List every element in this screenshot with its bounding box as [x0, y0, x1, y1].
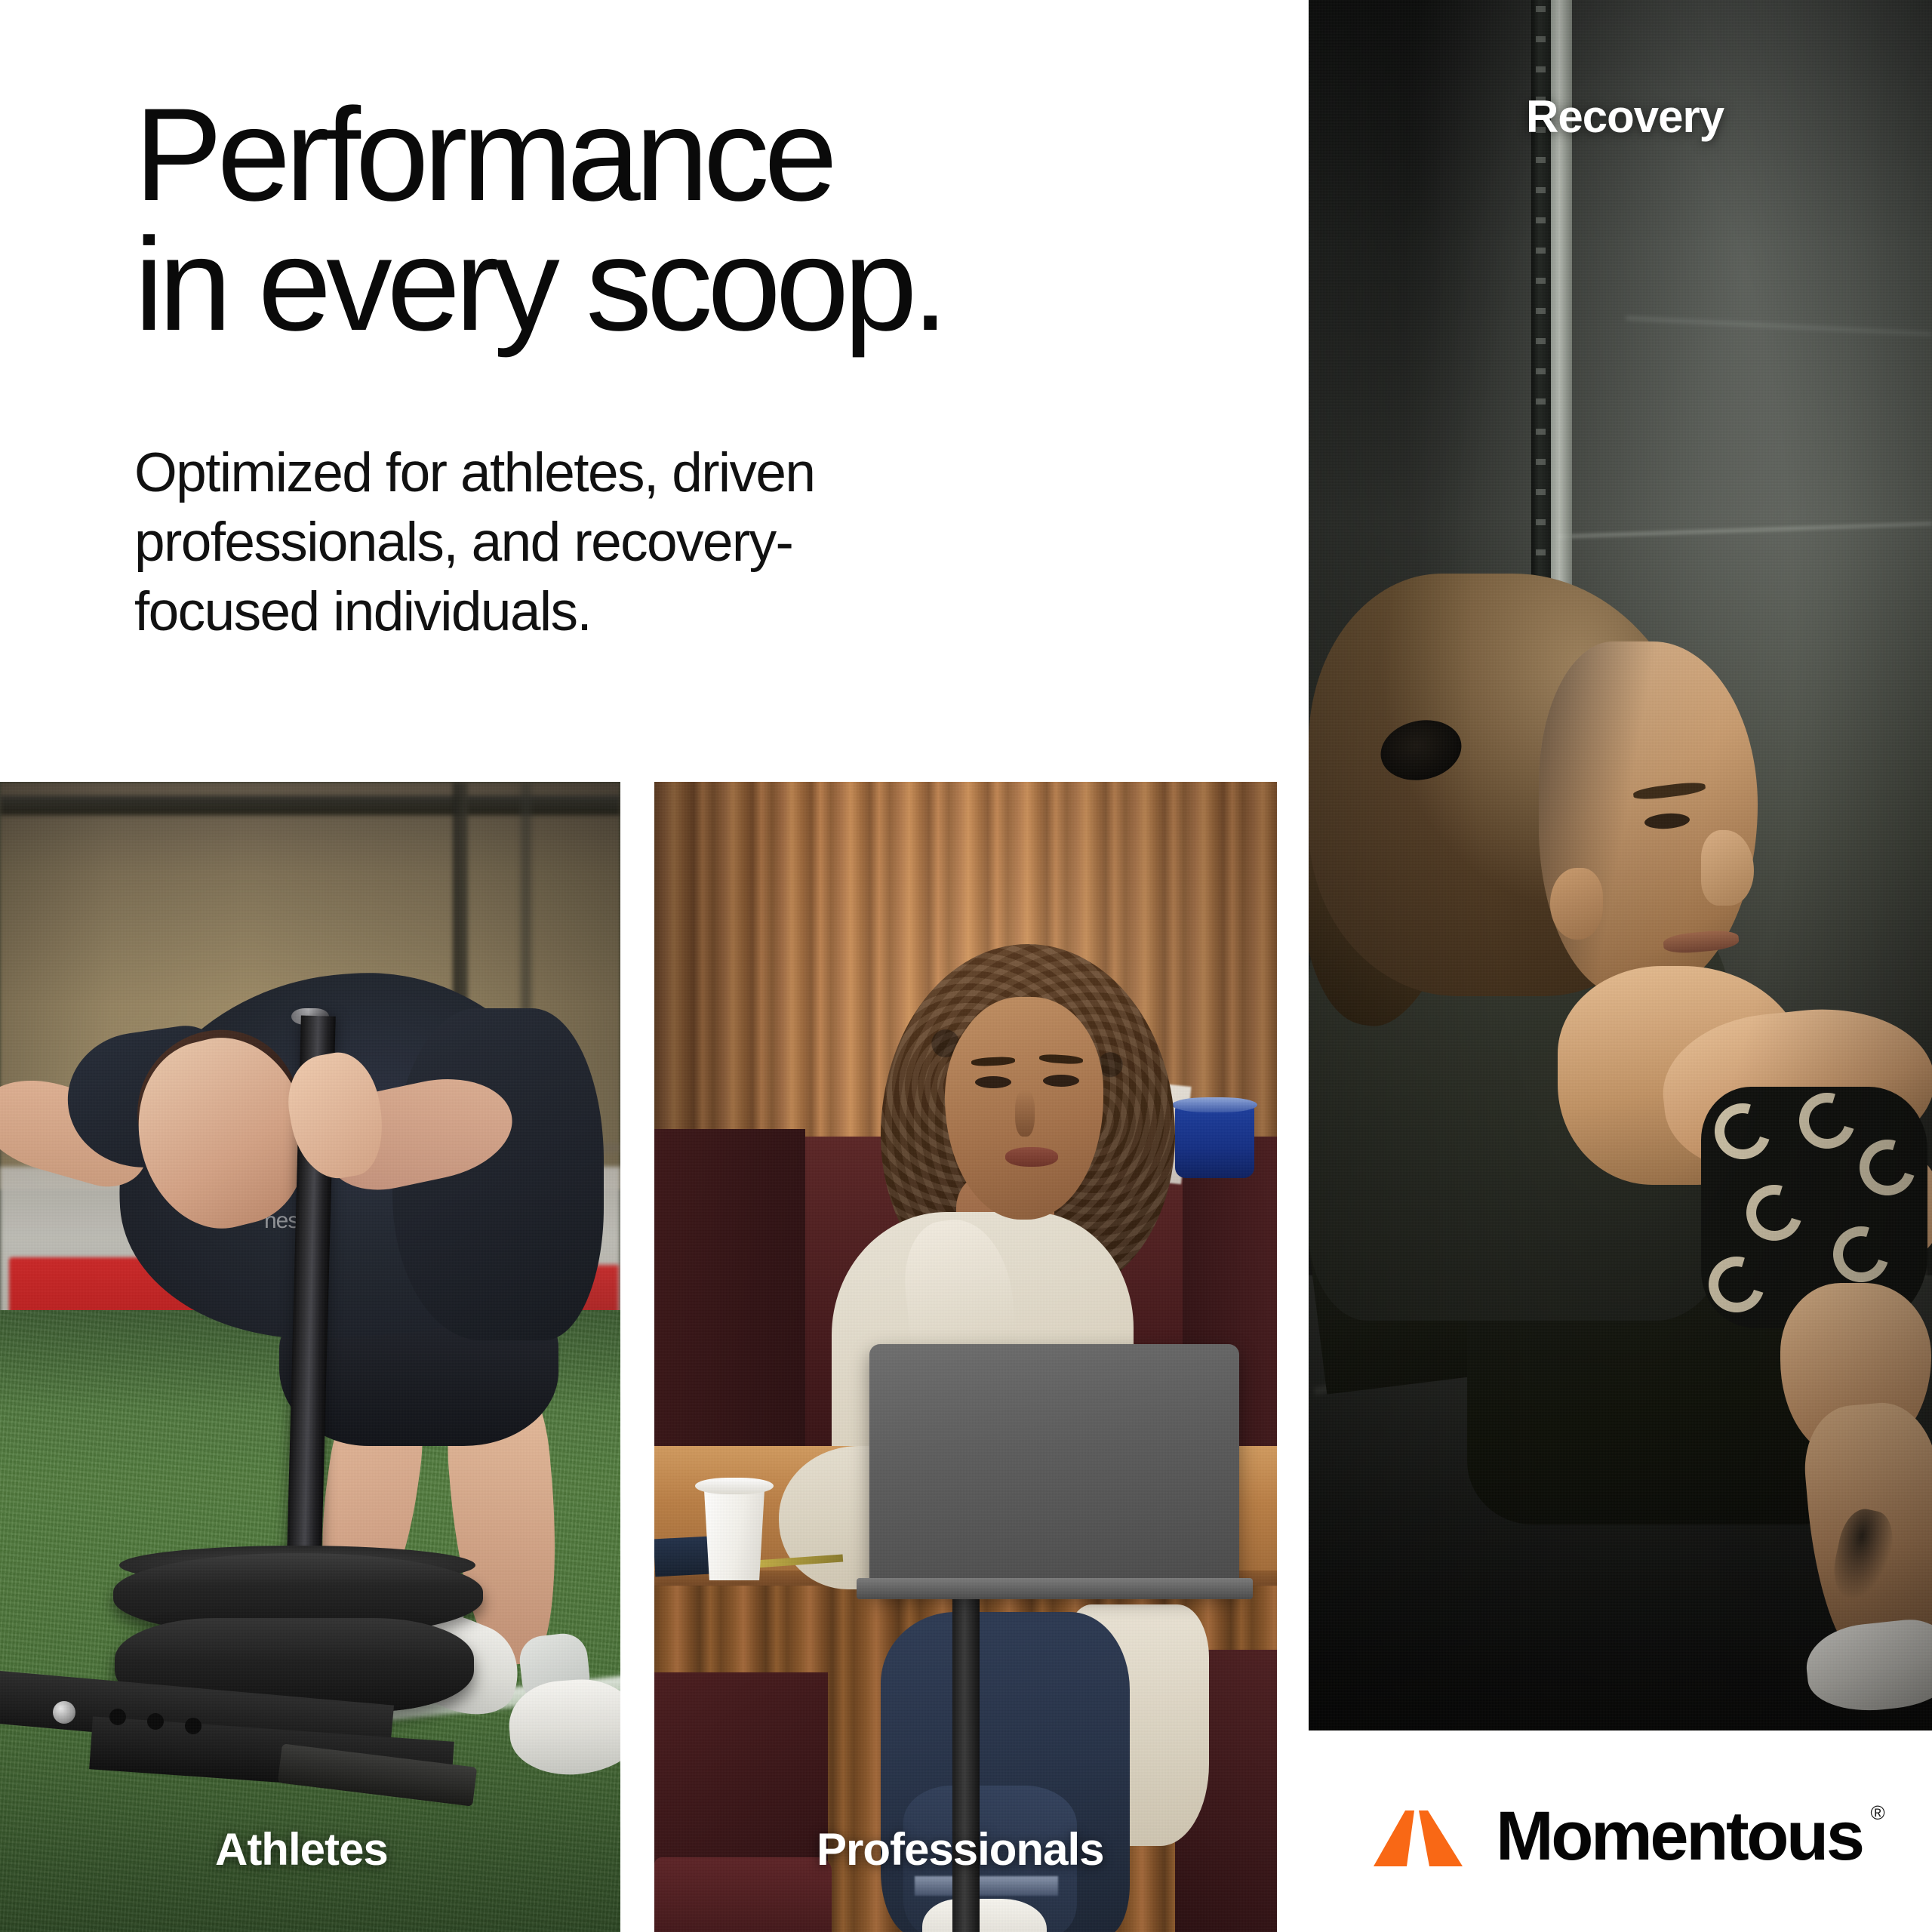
- woman-eye-right: [1043, 1075, 1079, 1087]
- table-leg: [952, 1586, 980, 1932]
- ceiling-beam-vertical-secondary: [521, 782, 531, 1031]
- sled-hole-3: [185, 1718, 202, 1734]
- woman-eye-left: [975, 1076, 1011, 1088]
- vignette-overlay: [1309, 0, 1932, 1730]
- hero-copy-block: Performance in every scoop. Optimized fo…: [134, 91, 1176, 647]
- sled-hole-1: [109, 1709, 126, 1725]
- ceiling-beam-vertical: [453, 782, 468, 1008]
- blue-tumbler-rim: [1172, 1097, 1257, 1112]
- sled-hole-2: [147, 1713, 164, 1730]
- panel-recovery[interactable]: [1309, 0, 1932, 1730]
- ad-creative-canvas: Performance in every scoop. Optimized fo…: [0, 0, 1932, 1932]
- woman-sneaker: [922, 1899, 1047, 1932]
- woman-jeans-hem: [915, 1876, 1058, 1896]
- panel-label-athletes: Athletes: [215, 1823, 388, 1875]
- brand-logo[interactable]: Momentous ®: [1374, 1795, 1902, 1878]
- paper-coffee-cup: [700, 1484, 769, 1580]
- page-title: Performance in every scoop.: [134, 91, 1176, 349]
- panel-label-professionals: Professionals: [817, 1823, 1104, 1875]
- blue-tumbler: [1175, 1103, 1254, 1178]
- booth-seat: [654, 1857, 832, 1932]
- momentous-mountain-m-icon: [1374, 1806, 1463, 1866]
- wordmark-text: Momentous: [1496, 1798, 1863, 1875]
- woman-nose: [1015, 1090, 1035, 1137]
- laptop-base[interactable]: [857, 1578, 1253, 1599]
- panel-athletes[interactable]: ness: [0, 782, 620, 1932]
- laptop-screen-back[interactable]: [869, 1344, 1239, 1593]
- wordmark: Momentous ®: [1496, 1801, 1863, 1871]
- panel-label-recovery: Recovery: [1526, 91, 1724, 143]
- paper-cup-rim: [695, 1478, 774, 1494]
- woman-lips: [1005, 1147, 1058, 1167]
- hero-subheadline: Optimized for athletes, driven professio…: [134, 438, 1078, 647]
- panel-professionals[interactable]: [654, 782, 1277, 1932]
- sled-bolt: [53, 1701, 75, 1724]
- registered-trademark-symbol: ®: [1870, 1803, 1884, 1823]
